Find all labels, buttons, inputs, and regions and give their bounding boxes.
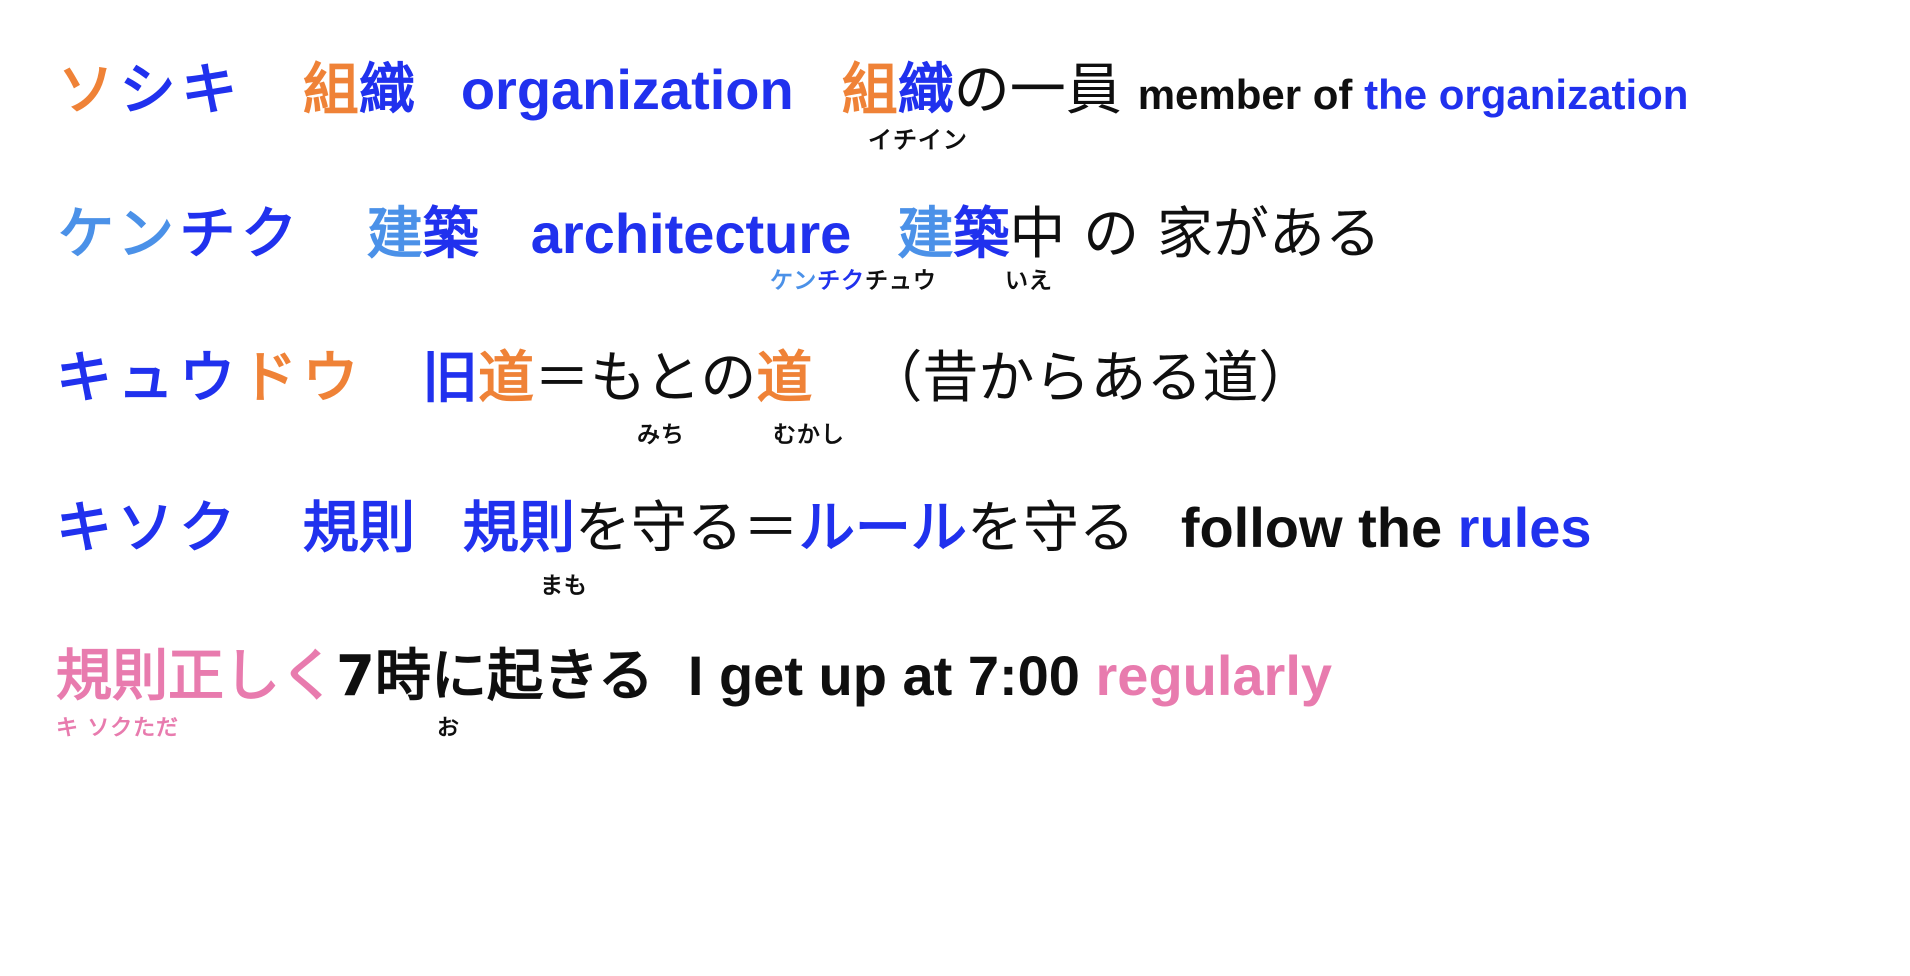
example-translation-run: follow the	[1181, 496, 1458, 559]
word-run: 織	[359, 58, 415, 123]
example-run: 規則正しく	[56, 644, 336, 709]
example-run: 規則	[463, 496, 575, 561]
reading-run: ドウ	[241, 346, 364, 411]
furigana-ie: いえ	[1005, 270, 1053, 293]
vocab-row-2-main-line: ケンチク建築architecture建築中 の 家がある	[0, 206, 1910, 263]
example-run: 織	[898, 58, 954, 123]
example-translation-run: the organization	[1364, 71, 1688, 118]
vocab-row-4-main-line: キソク規則規則を守る＝ルールを守るfollow the rules	[0, 500, 1910, 557]
example-run: を守る＝	[575, 496, 799, 561]
example-translation-run: rules	[1458, 496, 1592, 559]
furigana-run: チュウ	[865, 268, 937, 294]
word-run: 建	[367, 202, 423, 267]
example-run: ルール	[799, 496, 967, 561]
vocab-row-3-main-line: キュウドウ旧道＝もとの道（昔からある道）	[0, 350, 1910, 407]
example-run: 7時に起きる	[336, 644, 654, 709]
note-run: （昔からある道）	[866, 346, 1314, 411]
example-translation-run: member of	[1138, 71, 1364, 118]
example-translation-run: I get up at 7:00	[688, 644, 1096, 707]
vocab-row-5-main-line: 規則正しく7時に起きるI get up at 7:00 regularly	[0, 648, 1910, 705]
reading-run: チク	[180, 202, 303, 267]
reading-run: キュウ	[56, 346, 241, 411]
example-run: ＝もとの	[534, 346, 756, 411]
furigana-mukashi: むかし	[773, 424, 845, 447]
example-translation-run: regularly	[1096, 644, 1333, 707]
word-run: 道	[478, 346, 534, 411]
example-run: 築	[953, 202, 1009, 267]
reading-run: シキ	[120, 58, 243, 123]
meaning-run: organization	[461, 58, 794, 121]
furigana-michi: みち	[637, 424, 685, 447]
word-run: 旧	[422, 346, 478, 411]
furigana-kisokutada: キ ソクただ	[56, 718, 179, 740]
example-run: を守る	[967, 496, 1135, 561]
word-run: 規則	[303, 496, 415, 561]
example-run: の一員	[954, 58, 1122, 123]
meaning-run: architecture	[531, 202, 852, 265]
example-run: 中 の 家がある	[1009, 202, 1381, 267]
vocab-row-1-main-line: ソシキ組織organization組織の一員member of the orga…	[0, 62, 1910, 119]
reading-run: ソ	[58, 58, 120, 123]
furigana-run: チク	[817, 268, 865, 294]
slide-canvas: ソシキ組織organization組織の一員member of the orga…	[0, 0, 1910, 976]
furigana-ichiin: イチイン	[868, 128, 968, 152]
furigana-run: ケン	[770, 268, 817, 294]
furigana-kenchiku: ケンチクチュウ	[770, 270, 937, 316]
reading-run: キソク	[56, 496, 241, 561]
example-run: 道	[756, 346, 812, 411]
word-run: 組	[303, 58, 359, 123]
furigana-o: お	[437, 718, 460, 740]
furigana-mamo: まも	[540, 575, 588, 598]
word-run: 築	[423, 202, 479, 267]
example-run: 建	[897, 202, 953, 267]
reading-run: ケン	[58, 202, 180, 267]
example-run: 組	[842, 58, 898, 123]
